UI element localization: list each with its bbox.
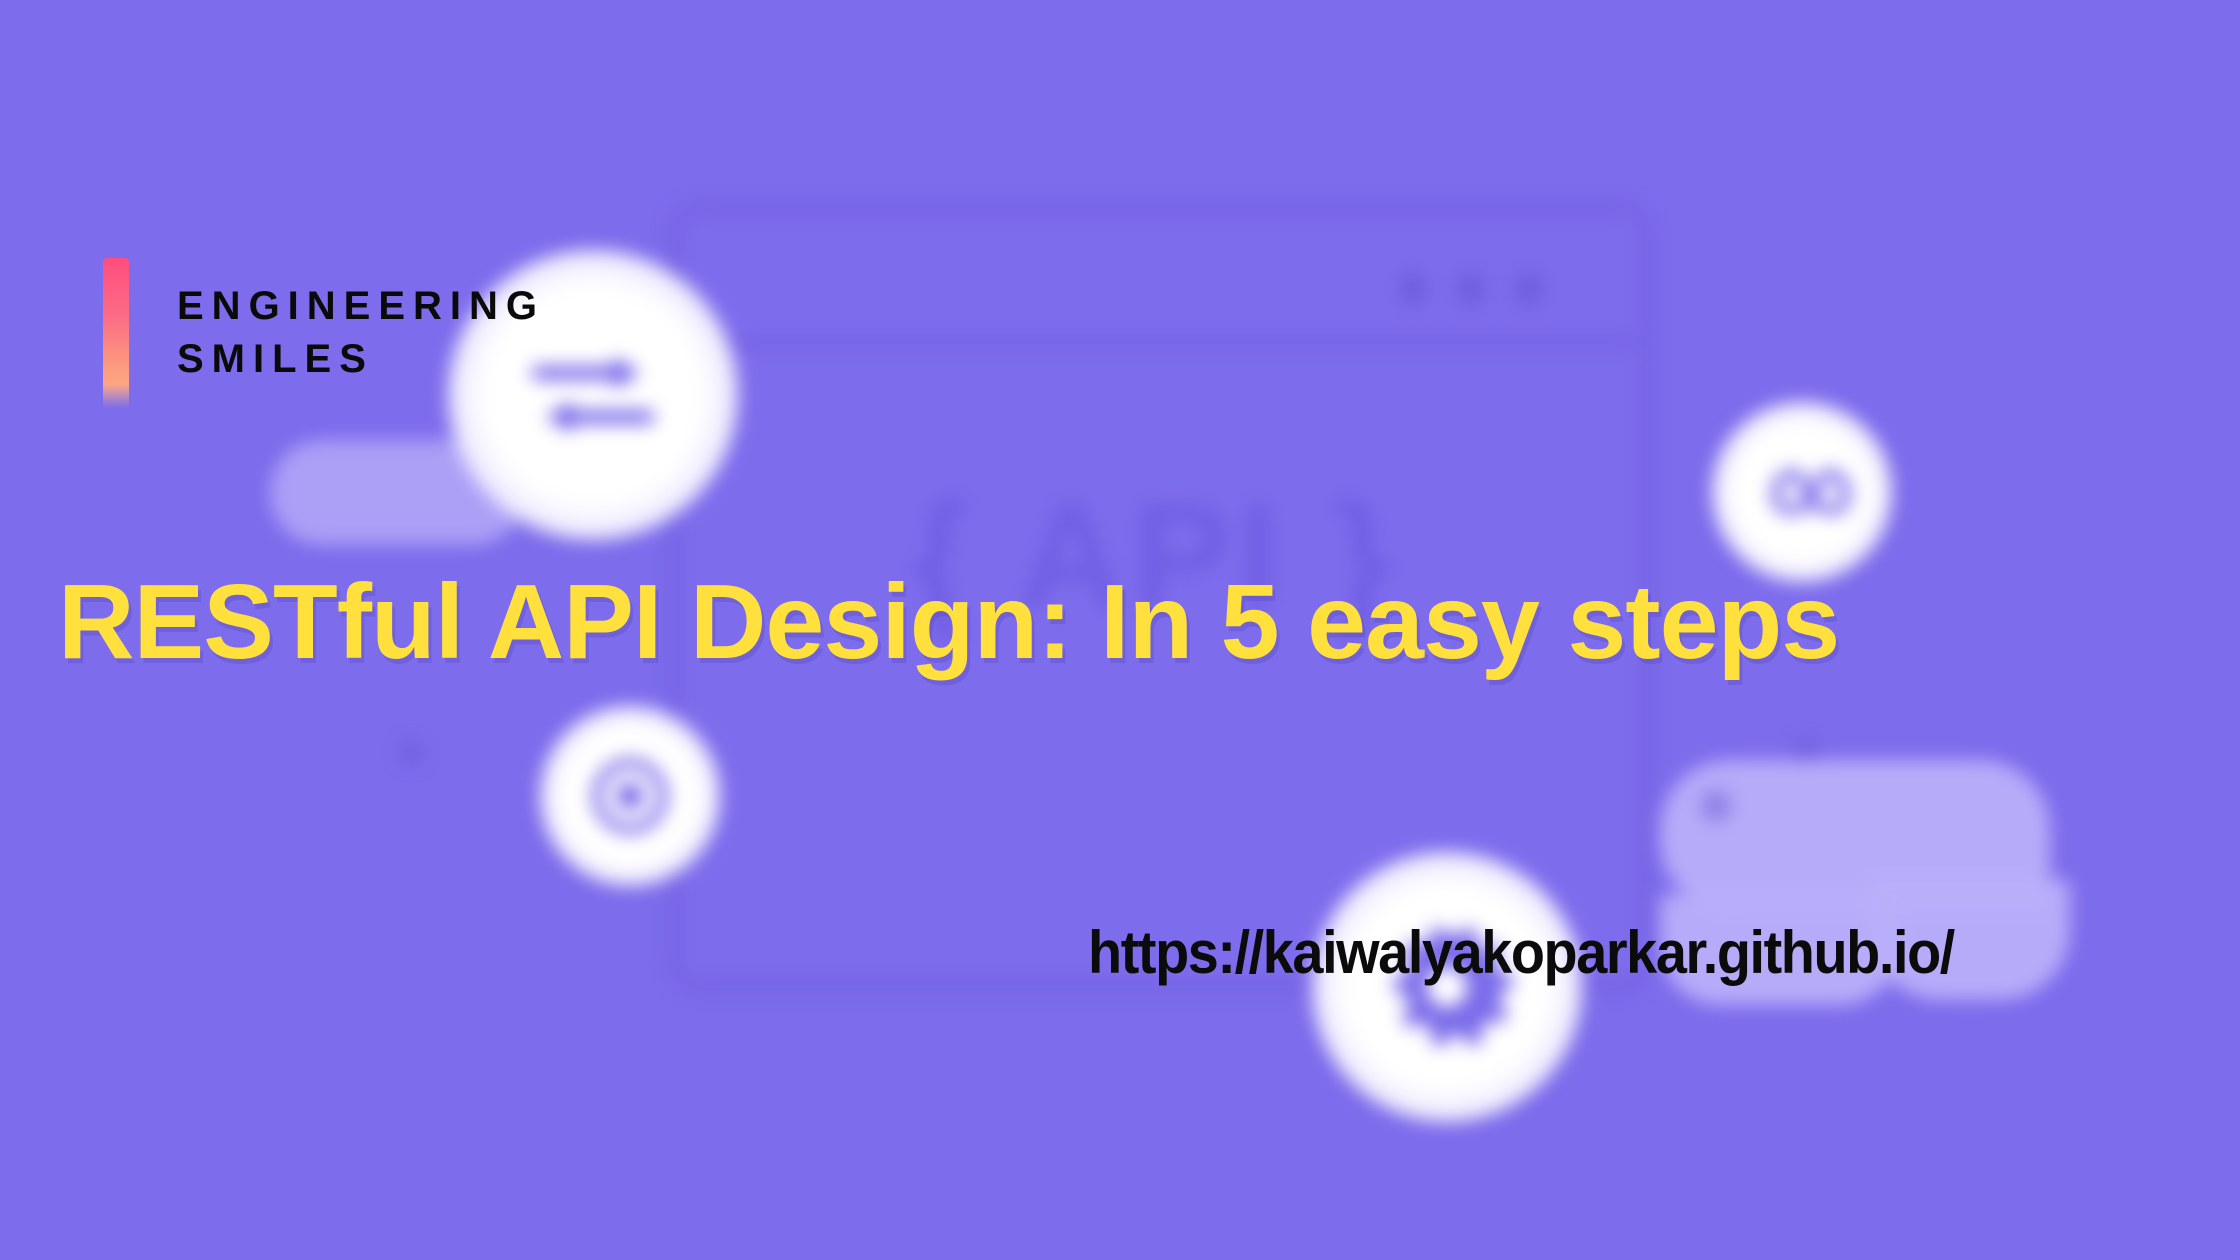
brand-line-2: SMILES	[177, 336, 545, 383]
blog-banner: { API }	[0, 0, 2240, 1260]
brand-line-1: ENGINEERING	[177, 283, 545, 330]
site-url: https://kaiwalyakoparkar.github.io/	[1088, 918, 1954, 987]
brush-stroke-icon	[103, 258, 129, 408]
brand-logo: ENGINEERING SMILES	[103, 258, 545, 408]
brand-logo-wordmark: ENGINEERING SMILES	[177, 283, 545, 383]
page-title: RESTful API Design: In 5 easy steps	[58, 562, 1839, 683]
foreground-content: ENGINEERING SMILES RESTful API Design: I…	[0, 0, 2240, 1260]
